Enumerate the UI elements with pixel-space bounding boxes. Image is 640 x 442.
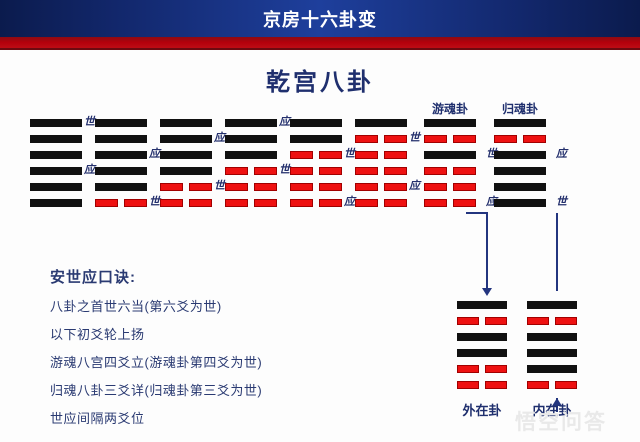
verse-line-2: 以下初爻轮上扬 — [50, 324, 350, 343]
yao-line-yin: 应 — [424, 198, 476, 209]
yao-line-yin — [225, 198, 277, 209]
yao-line-yang — [30, 134, 82, 145]
yao-line-yang — [160, 166, 212, 177]
ying-marker: 应 — [279, 115, 290, 129]
yang-bar — [527, 333, 577, 341]
yao-line-yang — [30, 150, 82, 161]
yang-bar — [424, 119, 476, 127]
yang-bar — [95, 151, 147, 159]
yao-line-yang: 应 — [494, 150, 546, 161]
hexagram-column-header: 归魂卦 — [488, 100, 552, 117]
header-accent-band — [0, 37, 640, 50]
hexagram-column-2: 应世 — [95, 118, 147, 214]
yin-bar-left — [457, 365, 479, 373]
yin-bar-right — [453, 167, 476, 175]
yao-line-yang — [95, 166, 147, 177]
yin-bar-left — [355, 183, 378, 191]
yao-line-yin — [225, 182, 277, 193]
yang-bar — [95, 183, 147, 191]
yao-line-yin — [424, 134, 476, 145]
hexagram-column-header: 游魂卦 — [418, 100, 482, 117]
yao-line-yin — [290, 166, 342, 177]
shi-marker: 世 — [409, 131, 420, 145]
yin-bar-right — [254, 199, 277, 207]
yin-bar-left — [290, 199, 313, 207]
yao-line-yang — [225, 134, 277, 145]
yao-line-yang — [527, 364, 577, 375]
page-title: 京房十六卦变 — [0, 0, 640, 37]
hexagram-column-4: 应世 — [225, 118, 277, 214]
hexagram-column-7: 游魂卦世应 — [424, 118, 476, 214]
connector-youhun-vertical — [486, 212, 488, 290]
yao-line-yang: 应 — [160, 134, 212, 145]
yao-line-yang — [494, 166, 546, 177]
yin-bar-right — [453, 199, 476, 207]
yang-bar — [290, 119, 342, 127]
yang-bar — [30, 119, 82, 127]
yin-bar-right — [384, 183, 407, 191]
verse-line-5: 世应间隔两爻位 — [50, 408, 350, 427]
yin-bar-right — [453, 183, 476, 191]
yin-bar-right — [189, 199, 212, 207]
ying-marker: 应 — [344, 195, 355, 209]
yin-bar-right — [319, 167, 342, 175]
yao-line-yin — [457, 316, 507, 327]
yao-line-yang — [95, 134, 147, 145]
yao-line-yang — [30, 198, 82, 209]
hexagram-column-6: 世应 — [355, 118, 407, 214]
yang-bar — [95, 119, 147, 127]
yao-line-yang: 应 — [95, 150, 147, 161]
yin-bar-left — [290, 183, 313, 191]
yang-bar — [494, 151, 546, 159]
hexagram-column-5: 世应 — [290, 118, 342, 214]
arrow-down-icon — [482, 288, 492, 296]
yang-bar — [494, 199, 546, 207]
yang-bar — [290, 135, 342, 143]
yao-line-yin — [160, 198, 212, 209]
yang-bar — [160, 135, 212, 143]
yin-bar-left — [355, 151, 378, 159]
yao-line-yang — [95, 118, 147, 129]
yang-bar — [527, 365, 577, 373]
yin-bar-right — [384, 151, 407, 159]
yin-bar-left — [494, 135, 517, 143]
yao-line-yang — [457, 300, 507, 311]
yin-bar-left — [355, 199, 378, 207]
yao-line-yin — [355, 198, 407, 209]
yao-line-yang — [457, 348, 507, 359]
shi-marker: 世 — [279, 163, 290, 177]
hexagram-column-1: 世应 — [30, 118, 82, 214]
verse-block: 安世应口诀: 八卦之首世六当(第六爻为世) 以下初爻轮上扬 游魂八宫四爻立(游魂… — [50, 266, 350, 436]
yin-bar-left — [457, 317, 479, 325]
yin-bar-right — [124, 199, 147, 207]
yang-bar — [30, 183, 82, 191]
yang-bar — [494, 183, 546, 191]
yin-bar-right — [485, 317, 507, 325]
yao-line-yin: 世 — [225, 166, 277, 177]
watermark: 悟空问答 — [486, 408, 636, 438]
yin-bar-right — [254, 167, 277, 175]
yao-line-yin — [457, 364, 507, 375]
hexagram-row: 世应应世应世应世世应世应游魂卦世应归魂卦应世 — [0, 100, 640, 220]
yang-bar — [30, 167, 82, 175]
yang-bar — [30, 135, 82, 143]
yin-bar-left — [424, 199, 447, 207]
yao-line-yin: 应 — [290, 198, 342, 209]
shi-marker: 世 — [84, 115, 95, 129]
yin-bar-right — [384, 167, 407, 175]
yao-line-yang: 世 — [424, 150, 476, 161]
yin-bar-right — [254, 183, 277, 191]
ying-marker: 应 — [409, 179, 420, 193]
shi-marker: 世 — [344, 147, 355, 161]
yin-bar-left — [225, 167, 248, 175]
yin-bar-left — [424, 135, 447, 143]
yin-bar-right — [319, 199, 342, 207]
yang-bar — [527, 301, 577, 309]
connector-guihun-vertical — [556, 213, 558, 291]
ying-marker: 应 — [84, 163, 95, 177]
yao-line-yin: 世 — [355, 134, 407, 145]
yao-line-yang — [457, 332, 507, 343]
yin-bar-right — [384, 199, 407, 207]
yin-bar-right — [189, 183, 212, 191]
yin-bar-right — [555, 317, 577, 325]
yang-bar — [424, 151, 476, 159]
yin-bar-right — [319, 151, 342, 159]
yao-line-yang — [160, 118, 212, 129]
yao-line-yang — [290, 118, 342, 129]
yang-bar — [527, 349, 577, 357]
yang-bar — [457, 333, 507, 341]
shi-marker: 世 — [214, 179, 225, 193]
yang-bar — [160, 119, 212, 127]
yin-bar-right — [555, 381, 577, 389]
yao-line-yang — [290, 134, 342, 145]
shi-marker: 世 — [149, 195, 160, 209]
yao-line-yang — [527, 300, 577, 311]
yao-line-yang — [527, 348, 577, 359]
yang-bar — [30, 151, 82, 159]
yao-line-yang — [95, 182, 147, 193]
yao-line-yin — [494, 134, 546, 145]
yao-line-yin — [424, 166, 476, 177]
yin-bar-left — [355, 135, 378, 143]
yao-line-yang — [424, 118, 476, 129]
yang-bar — [30, 199, 82, 207]
yao-line-yang — [494, 182, 546, 193]
yao-line-yang: 应 — [30, 166, 82, 177]
yin-bar-left — [527, 317, 549, 325]
yao-line-yin — [355, 166, 407, 177]
yao-line-yin — [457, 380, 507, 391]
yang-bar — [355, 119, 407, 127]
yao-line-yang — [494, 118, 546, 129]
yin-bar-left — [355, 167, 378, 175]
yin-bar-right — [485, 365, 507, 373]
yao-line-yin — [527, 316, 577, 327]
yao-line-yin: 应 — [355, 182, 407, 193]
yin-bar-right — [319, 183, 342, 191]
main-heading: 乾宫八卦 — [0, 62, 640, 97]
yang-bar — [95, 167, 147, 175]
yin-bar-left — [290, 151, 313, 159]
yin-bar-left — [424, 167, 447, 175]
verse-title: 安世应口诀: — [50, 266, 350, 287]
yin-bar-left — [290, 167, 313, 175]
shi-marker: 世 — [556, 195, 567, 209]
yao-line-yin: 世 — [160, 182, 212, 193]
ying-marker: 应 — [214, 131, 225, 145]
yin-bar-right — [485, 381, 507, 389]
verse-line-3: 游魂八宫四爻立(游魂卦第四爻为世) — [50, 352, 350, 371]
yao-line-yin — [424, 182, 476, 193]
yang-bar — [225, 135, 277, 143]
connector-youhun-horizontal — [466, 212, 488, 214]
yao-line-yin: 世 — [95, 198, 147, 209]
yang-bar — [225, 119, 277, 127]
yao-line-yin: 世 — [290, 150, 342, 161]
yin-bar-left — [225, 183, 248, 191]
yin-bar-right — [453, 135, 476, 143]
yin-bar-left — [457, 381, 479, 389]
yin-bar-left — [225, 199, 248, 207]
yin-bar-left — [527, 381, 549, 389]
yin-bar-left — [160, 199, 183, 207]
yang-bar — [160, 167, 212, 175]
yang-bar — [457, 349, 507, 357]
yao-line-yin — [355, 150, 407, 161]
hexagram-column-3: 应世 — [160, 118, 212, 214]
yao-line-yang: 应 — [225, 118, 277, 129]
yang-bar — [494, 167, 546, 175]
yao-line-yang: 世 — [494, 198, 546, 209]
yao-line-yang — [30, 182, 82, 193]
yao-line-yang — [527, 332, 577, 343]
hexagram-column-8: 归魂卦应世 — [494, 118, 546, 214]
yang-bar — [95, 135, 147, 143]
yin-bar-right — [384, 135, 407, 143]
bottom-hexagram-outer: 外在卦 — [457, 300, 507, 396]
yao-line-yang — [225, 150, 277, 161]
yin-bar-left — [424, 183, 447, 191]
yang-bar — [494, 119, 546, 127]
yang-bar — [225, 151, 277, 159]
yang-bar — [160, 151, 212, 159]
yao-line-yang — [160, 150, 212, 161]
yin-bar-left — [160, 183, 183, 191]
yang-bar — [457, 301, 507, 309]
yao-line-yang: 世 — [30, 118, 82, 129]
verse-line-1: 八卦之首世六当(第六爻为世) — [50, 296, 350, 315]
yao-line-yin — [290, 182, 342, 193]
yin-bar-left — [95, 199, 118, 207]
verse-line-4: 归魂八卦三爻详(归魂卦第三爻为世) — [50, 380, 350, 399]
yin-bar-right — [523, 135, 546, 143]
ying-marker: 应 — [149, 147, 160, 161]
bottom-hexagram-inner: 内在卦 — [527, 300, 577, 396]
ying-marker: 应 — [556, 147, 567, 161]
yao-line-yang — [355, 118, 407, 129]
yao-line-yin — [527, 380, 577, 391]
